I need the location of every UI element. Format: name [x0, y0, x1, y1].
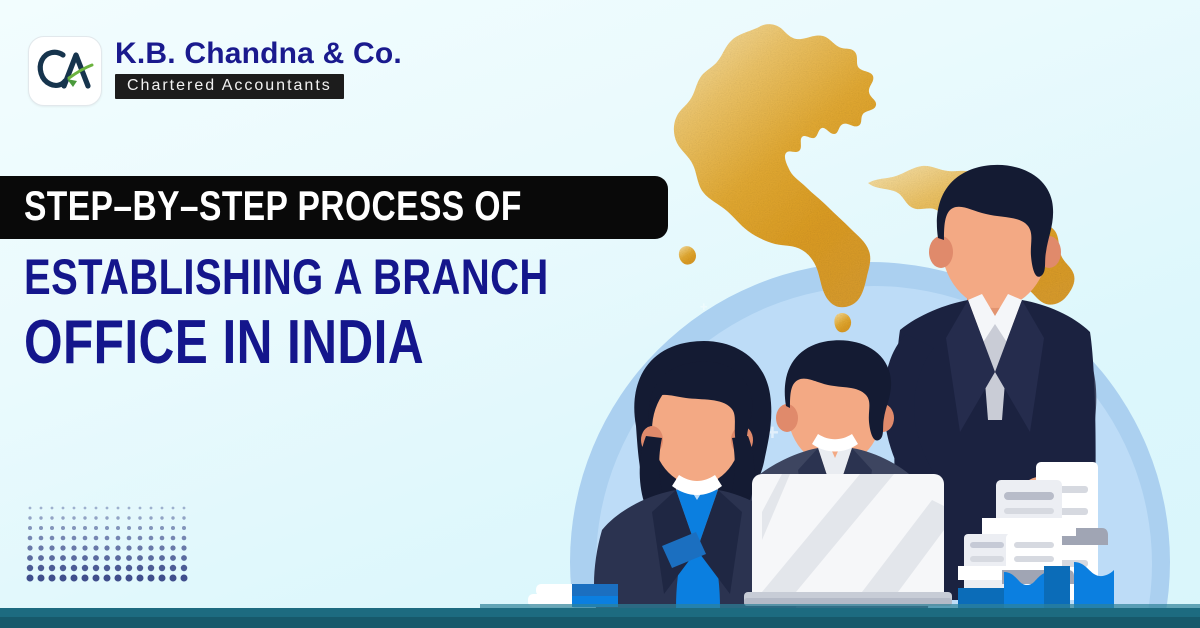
headline-line-1: STEP–BY–STEP PROCESS OF [24, 185, 522, 227]
laptop [744, 474, 952, 606]
desk-front-edge [0, 617, 1200, 628]
tagline-bar: Chartered Accountants [115, 74, 344, 99]
brand-logo-text: K.B. Chandna & Co. Chartered Accountants [115, 36, 402, 99]
company-name: K.B. Chandna & Co. [115, 38, 402, 70]
brand-logo[interactable]: K.B. Chandna & Co. Chartered Accountants [28, 36, 402, 106]
banner-canvas: + + [0, 0, 1200, 628]
company-tagline: Chartered Accountants [127, 78, 332, 94]
headline-block: STEP–BY–STEP PROCESS OF ESTABLISHING A B… [0, 176, 600, 374]
headline-banner: STEP–BY–STEP PROCESS OF [0, 176, 668, 239]
dot-grid-decoration [26, 504, 196, 590]
desk-surface [0, 608, 1200, 617]
ca-monogram-icon [28, 36, 102, 106]
headline-line-3: OFFICE IN INDIA [24, 312, 485, 374]
headline-line-2: ESTABLISHING A BRANCH [24, 252, 485, 302]
